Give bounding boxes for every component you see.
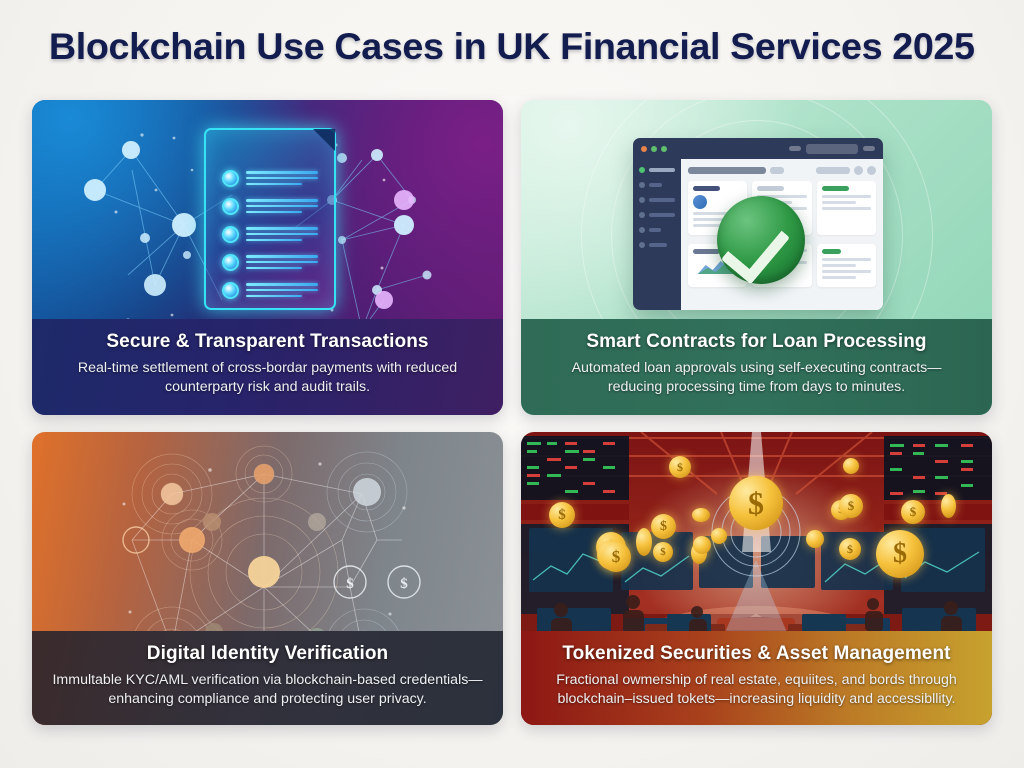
gold-coin-icon <box>711 528 727 544</box>
content-tile <box>817 244 876 287</box>
card-description-line-1: Automated loan approvals using self-exec… <box>541 359 972 379</box>
gold-coin-icon: $ <box>901 500 925 524</box>
card-title: Secure & Transparent Transactions <box>52 331 483 354</box>
content-tile <box>817 181 876 235</box>
window-minimize-dot-icon <box>651 146 657 152</box>
card-description-line-2: counterparty risk and audit trails. <box>52 378 483 398</box>
dollar-node-label: $ <box>346 576 354 592</box>
sidebar-item <box>639 182 675 188</box>
content-toolbar <box>688 166 876 175</box>
dashboard-sidebar <box>633 159 681 310</box>
sidebar-item <box>639 227 675 233</box>
document-sheet-front <box>204 128 336 310</box>
card-description-line-2: enhancing compliance and protecting user… <box>52 690 483 710</box>
gold-coin-icon: $ <box>669 456 691 478</box>
gold-coin-icon: $ <box>653 542 673 562</box>
checklist-bullet-icon <box>222 282 239 299</box>
card-digital-identity-verification[interactable]: $ $ Digital Identity Verification Immult… <box>32 432 503 725</box>
sidebar-item <box>639 212 675 218</box>
gold-coin-icon: $ <box>729 476 783 530</box>
sidebar-item <box>639 242 675 248</box>
ledger-document-icon <box>204 128 336 310</box>
card-title: Digital Identity Verification <box>52 643 483 666</box>
window-addressbar <box>789 144 875 154</box>
gold-coin-icon: $ <box>839 538 861 560</box>
card-secure-transparent-transactions[interactable]: Secure & Transparent Transactions Real-t… <box>32 100 503 415</box>
page-title: Blockchain Use Cases in UK Financial Ser… <box>49 26 975 68</box>
gold-coin-icon: $ <box>876 530 924 578</box>
gold-coin-icon: $ <box>549 502 575 528</box>
sidebar-item <box>639 167 675 173</box>
gold-coin-icon <box>692 508 710 522</box>
gold-coin-icon <box>806 530 824 548</box>
card-description-line-2: reducing processing time from days to mi… <box>541 378 972 398</box>
use-case-card-grid: Secure & Transparent Transactions Real-t… <box>32 100 992 725</box>
document-line-group <box>246 283 318 300</box>
checklist-bullet-icon <box>222 170 239 187</box>
card-title: Tokenized Securities & Asset Management <box>541 643 972 666</box>
green-checkmark-badge-icon <box>717 196 805 284</box>
page-fold-corner-icon <box>313 129 335 151</box>
gold-coin-icon <box>941 494 956 518</box>
window-maximize-dot-icon <box>661 146 667 152</box>
gold-coin-icon: $ <box>651 514 676 539</box>
gold-coin-icon <box>636 528 652 556</box>
window-titlebar <box>633 138 883 159</box>
page-title-container: Blockchain Use Cases in UK Financial Ser… <box>0 26 1024 68</box>
gold-coin-icon: $ <box>839 494 863 518</box>
checklist-bullet-icon <box>222 254 239 271</box>
card-caption: Digital Identity Verification Immultable… <box>32 631 503 725</box>
card-caption: Tokenized Securities & Asset Management … <box>521 631 992 725</box>
card-description-line-2: blockchain–issued tokets—increasing liqu… <box>541 690 972 710</box>
gold-coin-icon <box>843 458 859 474</box>
window-close-dot-icon <box>641 146 647 152</box>
document-line-group <box>246 227 318 244</box>
dashboard-window <box>633 138 883 310</box>
infographic-root: Blockchain Use Cases in UK Financial Ser… <box>0 0 1024 768</box>
document-line-group <box>246 255 318 272</box>
document-line-group <box>246 171 318 188</box>
document-line-group <box>246 199 318 216</box>
card-title: Smart Contracts for Loan Processing <box>541 331 972 354</box>
gold-coin-icon <box>693 536 711 554</box>
card-description-line-1: Real-time settlement of cross-bordar pay… <box>52 359 483 379</box>
checklist-bullet-icon <box>222 226 239 243</box>
card-description-line-1: Immultable KYC/AML verification via bloc… <box>52 671 483 691</box>
sidebar-item <box>639 197 675 203</box>
checklist-bullet-icon <box>222 198 239 215</box>
card-smart-contracts-loan-processing[interactable]: Smart Contracts for Loan Processing Auto… <box>521 100 992 415</box>
card-caption: Secure & Transparent Transactions Real-t… <box>32 319 503 415</box>
card-caption: Smart Contracts for Loan Processing Auto… <box>521 319 992 415</box>
card-tokenized-securities-asset-management[interactable]: $ $ $ $ $ $ $ $ $ $ $ $ $ <box>521 432 992 725</box>
card-description-line-1: Fractional owmership of real estate, equ… <box>541 671 972 691</box>
gold-coin-icon: $ <box>601 542 631 572</box>
dollar-node-label: $ <box>400 576 408 592</box>
